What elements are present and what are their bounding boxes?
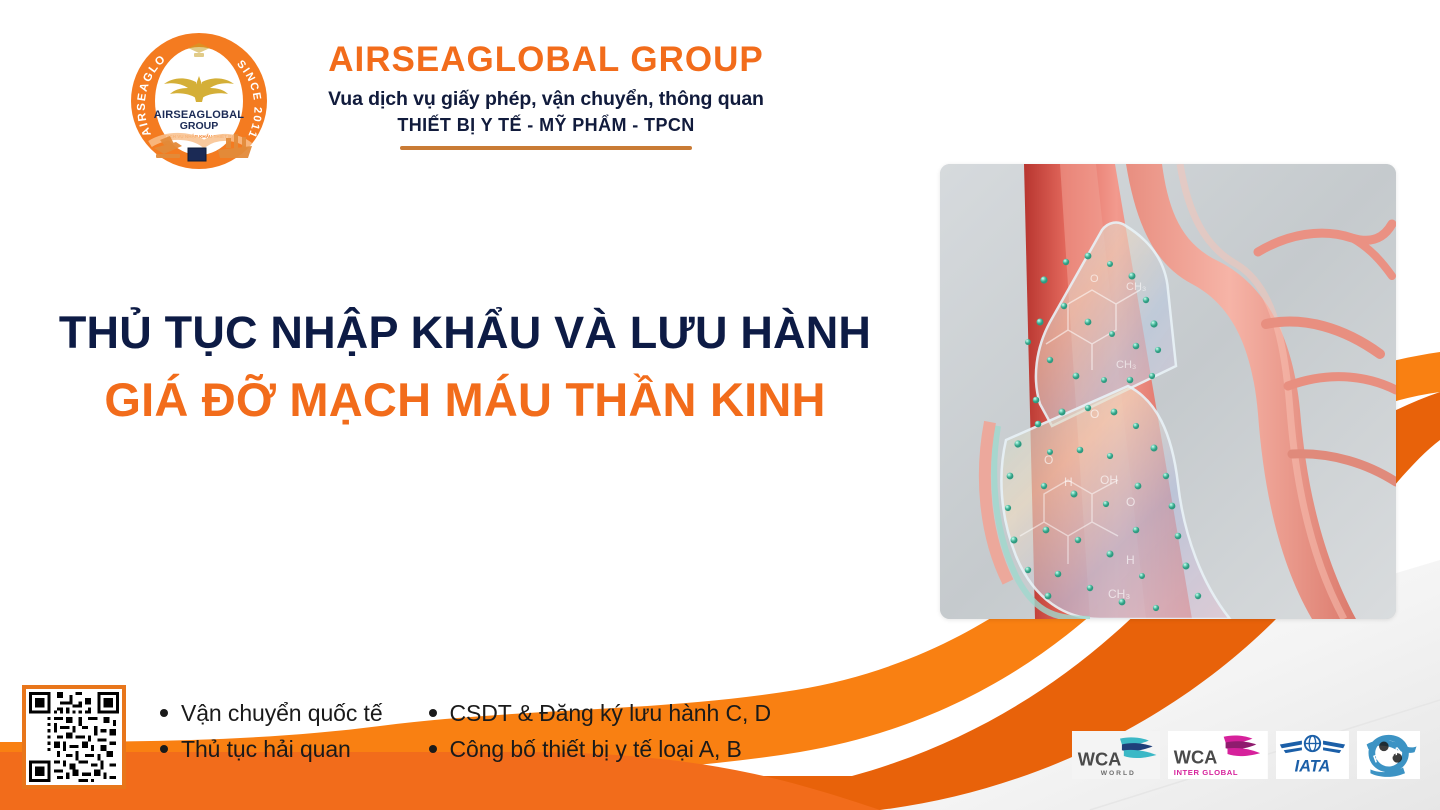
list-item: CSDT & Đăng ký lưu hành C, D (429, 700, 772, 727)
qr-code[interactable] (22, 685, 126, 789)
list-item: Công bố thiết bị y tế loại A, B (429, 736, 772, 763)
list-item: Thủ tục hải quan (160, 736, 383, 763)
svg-text:H: H (1064, 475, 1073, 489)
svg-text:WCA: WCA (1078, 749, 1122, 770)
list-item-label: Thủ tục hải quan (181, 736, 351, 763)
brand-subtitle-2: THIẾT BỊ Y TẾ - MỸ PHẨM - TPCN (296, 115, 796, 136)
iata-logo: IATA (1276, 731, 1349, 779)
svg-text:O: O (1090, 273, 1099, 285)
bullet-dot-icon (429, 709, 437, 717)
plane-ship-illustration (150, 134, 252, 161)
brand-divider-rule (400, 146, 692, 150)
brand-text-block: AIRSEAGLOBAL GROUP Vua dịch vụ giấy phép… (296, 42, 796, 150)
svg-text:H: H (1126, 553, 1135, 567)
list-item-label: CSDT & Đăng ký lưu hành C, D (450, 700, 772, 727)
brand-title: AIRSEAGLOBAL GROUP (296, 42, 796, 79)
blood-vessel-stent-illustration: O CH₃ CH₃ O O H OH O H C (940, 164, 1396, 619)
header: AIRSEAGLOBAL SINCE 2011 AIRSEAGLOBA (0, 0, 860, 175)
list-item-label: Vận chuyển quốc tế (181, 700, 383, 727)
brand-subtitle-1: Vua dịch vụ giấy phép, vận chuyển, thông… (296, 88, 796, 111)
list-item-label: Công bố thiết bị y tế loại A, B (450, 736, 742, 763)
list-item: Vận chuyển quốc tế (160, 700, 383, 727)
svg-text:O: O (1126, 495, 1135, 509)
headline-line-1: THỦ TỤC NHẬP KHẨU VÀ LƯU HÀNH (0, 305, 930, 361)
services-column-left: Vận chuyển quốc tế Thủ tục hải quan (160, 700, 383, 763)
bullet-dot-icon (160, 709, 168, 717)
svg-text:O: O (1090, 407, 1099, 421)
svg-text:O: O (1044, 453, 1053, 467)
svg-text:CH₃: CH₃ (1116, 359, 1136, 371)
bullet-dot-icon (160, 745, 168, 753)
fiata-logo: FIATA (1357, 731, 1420, 779)
services-list: Vận chuyển quốc tế Thủ tục hải quan CSDT… (160, 700, 771, 763)
partner-logos: WCA WORLD WCA INTER GLOBAL (1072, 731, 1420, 779)
bullet-dot-icon (429, 745, 437, 753)
wca-world-logo: WCA WORLD (1072, 731, 1160, 779)
svg-text:IATA: IATA (1295, 757, 1331, 775)
svg-text:WORLD: WORLD (1101, 770, 1136, 777)
svg-text:CH₃: CH₃ (1108, 587, 1130, 601)
svg-text:CH₃: CH₃ (1126, 281, 1146, 293)
page-title: THỦ TỤC NHẬP KHẨU VÀ LƯU HÀNH GIÁ ĐỠ MẠC… (0, 305, 930, 430)
svg-text:INTER GLOBAL: INTER GLOBAL (1174, 768, 1238, 777)
slide-canvas: AIRSEAGLOBAL SINCE 2011 AIRSEAGLOBA (0, 0, 1440, 810)
svg-text:OH: OH (1100, 473, 1118, 487)
headline-line-2: GIÁ ĐỠ MẠCH MÁU THẦN KINH (0, 371, 930, 430)
svg-text:WCA: WCA (1174, 747, 1218, 768)
airseaglobal-logo[interactable]: AIRSEAGLOBAL SINCE 2011 AIRSEAGLOBA (130, 32, 268, 170)
wca-inter-global-logo: WCA INTER GLOBAL (1168, 731, 1268, 779)
services-column-right: CSDT & Đăng ký lưu hành C, D Công bố thi… (429, 700, 772, 763)
svg-text:GROUP: GROUP (180, 120, 219, 132)
